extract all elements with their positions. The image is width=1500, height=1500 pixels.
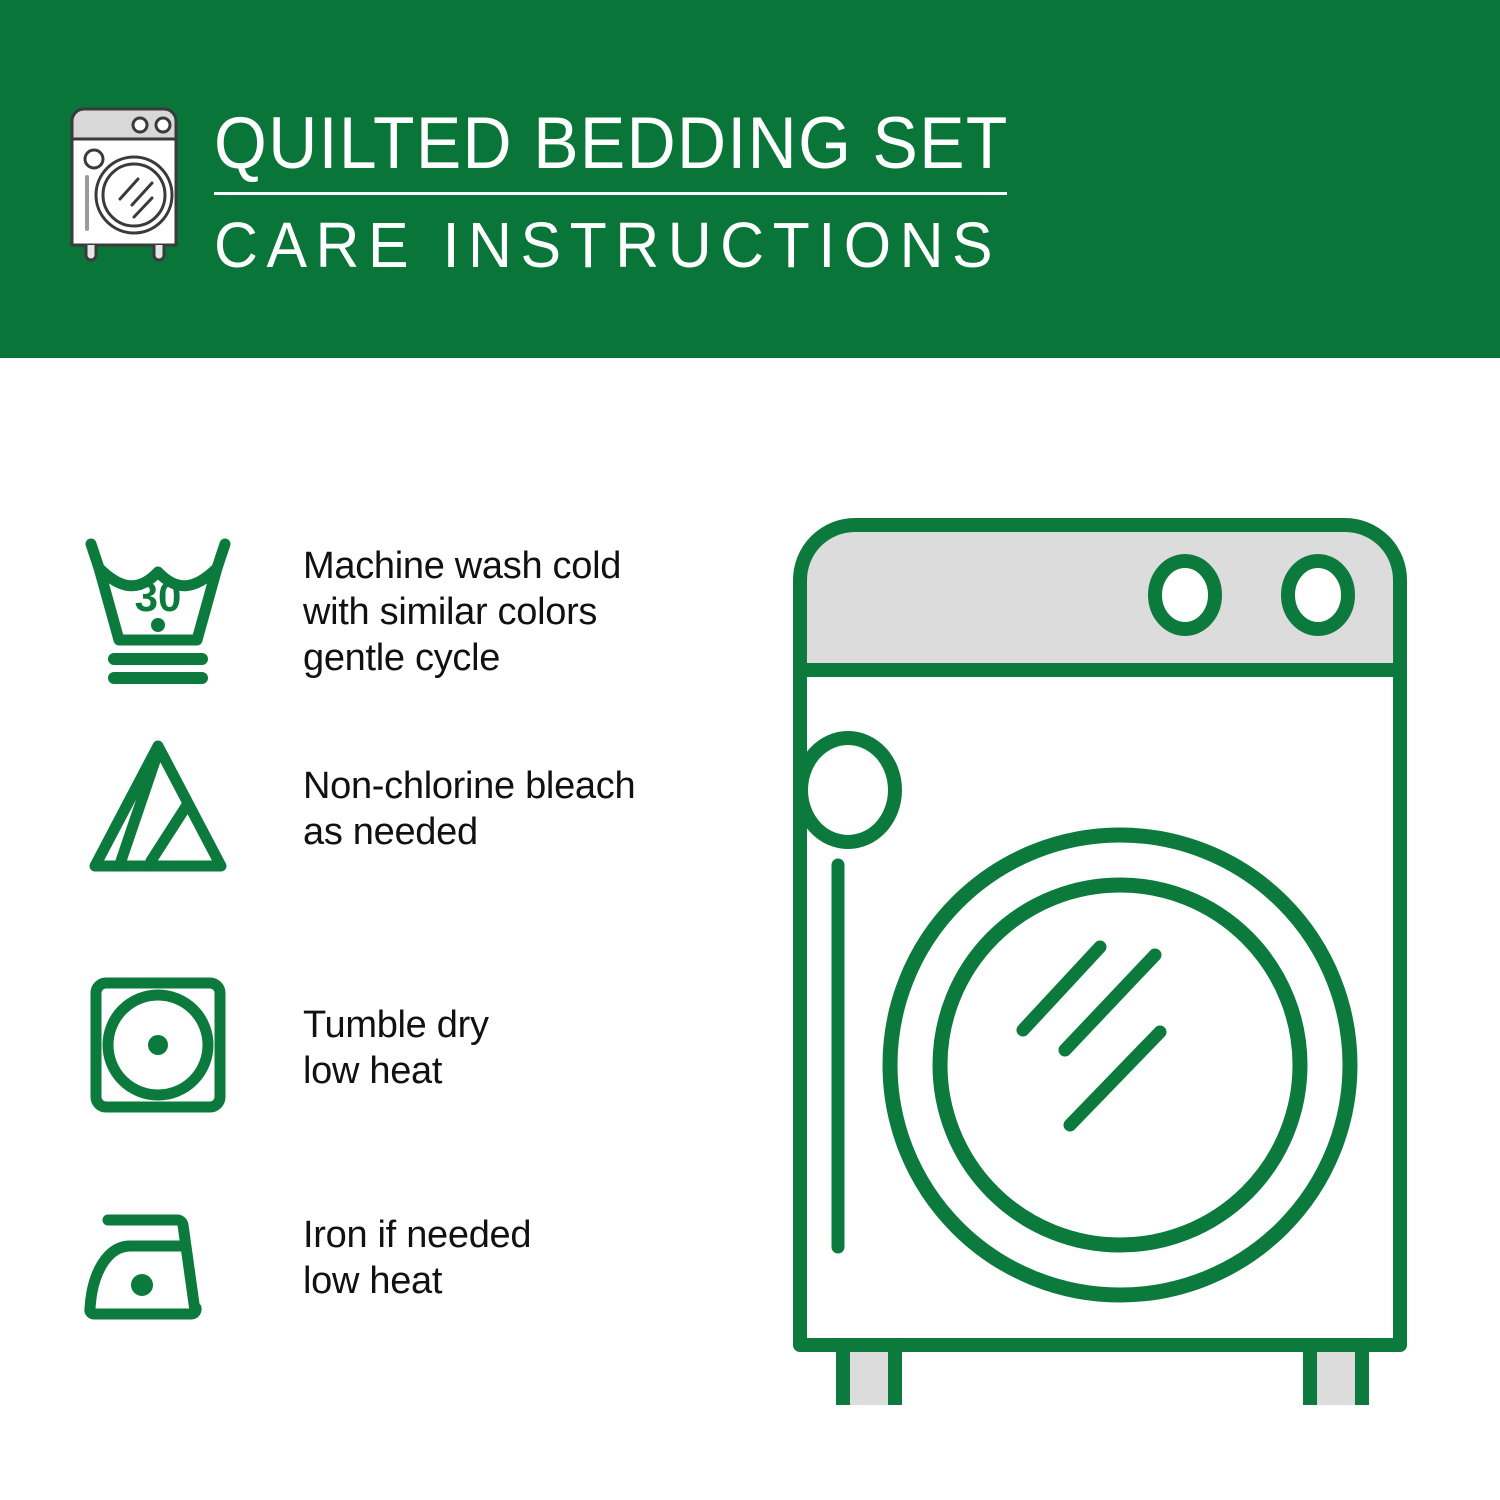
control-knob-2 [1288, 561, 1348, 629]
non-chlorine-bleach-triangle-icon [78, 730, 238, 890]
care-label-line: Machine wash cold [303, 543, 621, 589]
iron-low-heat-icon [78, 1190, 238, 1350]
machine-leg-left [843, 1345, 895, 1405]
header-banner: QUILTED BEDDING SET CARE INSTRUCTIONS [0, 0, 1500, 358]
title-divider [214, 192, 1007, 195]
care-label-line: low heat [303, 1258, 531, 1304]
care-label-line: with similar colors [303, 589, 621, 635]
care-row-bleach: Non-chlorine bleach as needed [0, 730, 720, 900]
care-row-tumble-dry: Tumble dry low heat [0, 965, 720, 1135]
header-text-block: QUILTED BEDDING SET CARE INSTRUCTIONS [214, 104, 1014, 281]
care-instructions-page: QUILTED BEDDING SET CARE INSTRUCTIONS 30 [0, 0, 1500, 1500]
care-label-line: as needed [303, 809, 635, 855]
care-label-line: Tumble dry [303, 1002, 489, 1048]
care-row-wash: 30 Machine wash cold with similar colors… [0, 525, 720, 695]
care-label-iron: Iron if needed low heat [303, 1212, 531, 1304]
detergent-indicator [801, 738, 895, 842]
washing-machine-illustration [745, 505, 1455, 1405]
care-label-tumble-dry: Tumble dry low heat [303, 1002, 489, 1094]
page-subtitle: CARE INSTRUCTIONS [214, 209, 974, 281]
care-label-line: Iron if needed [303, 1212, 531, 1258]
care-label-wash: Machine wash cold with similar colors ge… [303, 543, 621, 681]
care-row-iron: Iron if needed low heat [0, 1190, 720, 1360]
washing-machine-icon [62, 103, 194, 263]
control-knob-1 [1155, 561, 1215, 629]
care-label-line: low heat [303, 1048, 489, 1094]
machine-leg-right [1310, 1345, 1362, 1405]
care-label-line: Non-chlorine bleach [303, 763, 635, 809]
tumble-dry-low-heat-icon [78, 965, 238, 1125]
wash-temperature-value: 30 [135, 573, 182, 620]
page-title: QUILTED BEDDING SET [214, 104, 958, 184]
care-label-bleach: Non-chlorine bleach as needed [303, 763, 635, 855]
care-label-line: gentle cycle [303, 635, 621, 681]
wash-tub-30-gentle-icon: 30 [78, 525, 238, 685]
